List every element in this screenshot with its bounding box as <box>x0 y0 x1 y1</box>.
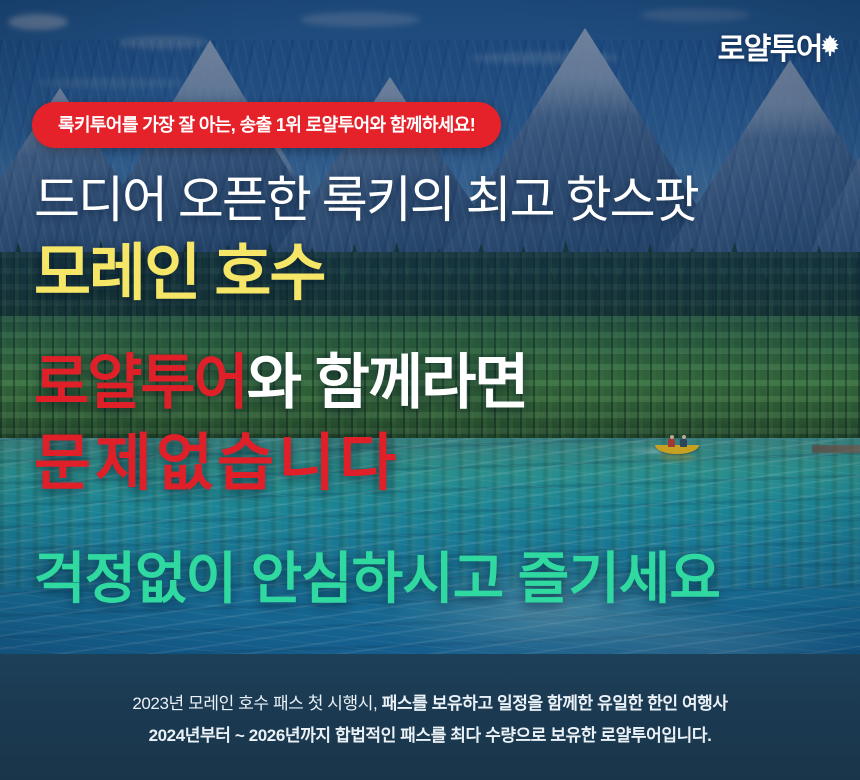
headline-with-rest: 와 함께라면 <box>247 349 528 416</box>
promo-banner: 로얄투어 록키투어를 가장 잘 아는, 송출 1위 로얄투어와 함께하세요! 드… <box>0 0 860 780</box>
footer-line-1-regular: 2023년 모레인 호수 패스 첫 시행시, <box>132 694 381 713</box>
footer-line-2: 2024년부터 ~ 2026년까지 합법적인 패스를 최다 수량으로 보유한 로… <box>149 721 712 746</box>
footer-line-1: 2023년 모레인 호수 패스 첫 시행시, 패스를 보유하고 일정을 함께한 … <box>132 689 727 714</box>
footer-line-1-bold: 패스를 보유하고 일정을 함께한 유일한 한인 여행사 <box>382 694 728 713</box>
brand-logo-text: 로얄투어 <box>718 24 822 68</box>
headline-enjoy: 걱정없이 안심하시고 즐기세요 <box>34 534 720 615</box>
headline-no-problem: 문제없습니다 <box>34 412 400 502</box>
footer-band: 2023년 모레인 호수 패스 첫 시행시, 패스를 보유하고 일정을 함께한 … <box>0 654 860 780</box>
brand-logo: 로얄투어 <box>718 24 836 68</box>
maple-leaf-icon <box>817 33 843 59</box>
headline-lake-name: 모레인 호수 <box>34 222 324 312</box>
headline-brand-word: 로얄투어 <box>34 349 247 416</box>
tagline-badge: 록키투어를 가장 잘 아는, 송출 1위 로얄투어와 함께하세요! <box>32 102 501 148</box>
banner-content: 로얄투어 록키투어를 가장 잘 아는, 송출 1위 로얄투어와 함께하세요! 드… <box>0 0 860 780</box>
headline-with-brand: 로얄투어와 함께라면 <box>34 334 527 421</box>
